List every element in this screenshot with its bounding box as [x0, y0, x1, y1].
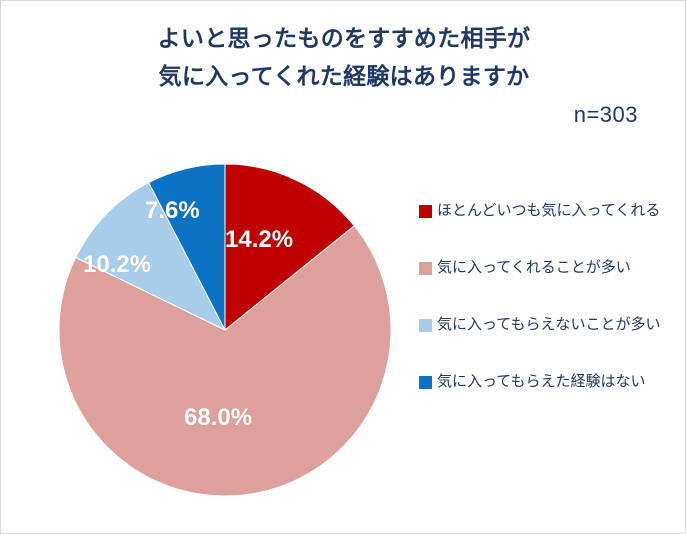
legend-label-2: 気に入ってもらえないことが多い	[437, 315, 661, 335]
legend-label-1: 気に入ってくれることが多い	[437, 258, 631, 278]
sample-size-label: n=303	[574, 102, 638, 128]
chart-legend: ほとんどいつも気に入ってくれる 気に入ってくれることが多い 気に入ってもらえない…	[419, 201, 674, 429]
chart-container: よいと思ったものをすすめた相手が 気に入ってくれた経験はありますか n=303 …	[0, 0, 686, 534]
legend-label-3: 気に入ってもらえた経験はない	[437, 372, 646, 392]
legend-swatch-icon-3	[419, 376, 432, 389]
pie-slice-label-0: 14.2%	[225, 226, 293, 254]
title-line-2: 気に入ってくれた経験はありますか	[1, 57, 686, 95]
page-title: よいと思ったものをすすめた相手が 気に入ってくれた経験はありますか	[1, 19, 686, 95]
legend-item-2[interactable]: 気に入ってもらえないことが多い	[419, 315, 674, 372]
legend-swatch-icon-0	[419, 205, 432, 218]
legend-item-0[interactable]: ほとんどいつも気に入ってくれる	[419, 201, 674, 258]
title-line-1: よいと思ったものをすすめた相手が	[1, 19, 686, 57]
legend-swatch-icon-2	[419, 319, 432, 332]
legend-swatch-icon-1	[419, 262, 432, 275]
legend-item-1[interactable]: 気に入ってくれることが多い	[419, 258, 674, 315]
legend-item-3[interactable]: 気に入ってもらえた経験はない	[419, 372, 674, 429]
pie-slice-label-1: 68.0%	[184, 404, 252, 432]
pie-slice-label-2: 10.2%	[83, 251, 151, 279]
pie-chart-svg	[59, 164, 391, 496]
legend-label-0: ほとんどいつも気に入ってくれる	[437, 201, 660, 221]
pie-slice-group	[59, 164, 391, 496]
pie-chart: 14.2% 68.0% 10.2% 7.6%	[59, 164, 391, 496]
pie-slice-label-3: 7.6%	[145, 197, 200, 225]
